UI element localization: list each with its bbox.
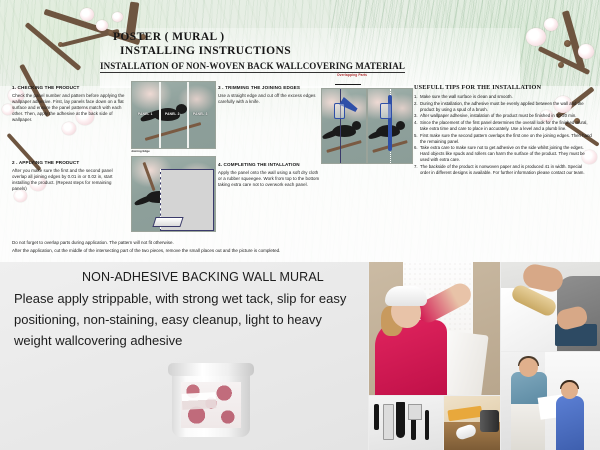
child-head	[561, 382, 578, 399]
step-1-heading: 1. CHECKING THE PRODUCT	[12, 85, 127, 91]
joining-edge-caption: Joining Edge	[131, 149, 150, 153]
tip-text: During the installation, the adhesive mu…	[420, 101, 592, 113]
child-body	[556, 396, 584, 450]
footnote-line-2: After the application, cut the middle of…	[12, 247, 280, 255]
tip-item: 5.First make sure the second pattern ove…	[414, 133, 592, 145]
footnote-line-1: Do not forget to overlap parts during ap…	[12, 239, 280, 247]
person-cap	[385, 286, 427, 306]
tip-item: 7.The backside of the product is nonwove…	[414, 164, 592, 176]
straight-edge	[334, 103, 345, 119]
tips-heading: USEFULL TIPS FOR THE INSTALLATION	[414, 84, 592, 91]
tip-item: 6.Take extra care to make sure not to ge…	[414, 145, 592, 163]
step-4-diagram	[367, 88, 413, 164]
product-listing-image: POSTER ( MURAL ) INSTALLING INSTRUCTIONS…	[0, 0, 600, 450]
tip-item: 1.Make sure the wall surface is clean an…	[414, 94, 592, 100]
paint-can	[480, 410, 499, 432]
step-1-body: Check the panel number and pattern befor…	[12, 93, 127, 123]
person-head	[519, 358, 538, 377]
putty-knife-blade-icon	[408, 404, 422, 420]
paint-tray	[447, 406, 482, 422]
step-2-heading: 2 . APPLYING THE PRODUCT	[12, 160, 127, 166]
step-3-heading: 3 . TRIMMING THE JOINING EDGES	[218, 85, 323, 91]
adhesive-bucket-photo	[168, 363, 254, 437]
branch-illustration	[142, 162, 155, 191]
panel-2-label: PANEL 2	[165, 112, 180, 116]
panel-3-label: PANEL 3	[193, 112, 208, 116]
panel-divider	[187, 82, 189, 148]
overlapping-parts-label: Overlapping Parts	[337, 73, 367, 77]
tip-item: 3.After wallpaper adhesive, instalation …	[414, 113, 592, 119]
man-and-child-photo	[501, 352, 600, 450]
tip-item: 2.During the installation, the adhesive …	[414, 101, 592, 113]
tip-text: Since the placement of the first panel d…	[420, 120, 592, 132]
tip-text: The backside of the product is nonwoven …	[420, 164, 592, 176]
tip-item: 4.Since the placement of the first panel…	[414, 120, 592, 132]
peeled-edge	[152, 217, 183, 227]
panel-1-label: PANEL 1	[138, 112, 153, 116]
sheet-footnote: Do not forget to overlap parts during ap…	[12, 239, 280, 254]
tip-text: Make sure the wall surface is clean and …	[420, 94, 592, 100]
step-2-body: After you make sure the first and the se…	[12, 168, 127, 192]
panel-divider	[159, 82, 161, 148]
sheet-title-line1: POSTER ( MURAL )	[113, 31, 225, 43]
scraper-handle-icon	[374, 404, 379, 430]
promo-title: NON-ADHESIVE BACKING WALL MURAL	[82, 270, 324, 284]
step-2-applying-the-product: 2 . APPLYING THE PRODUCT After you make …	[12, 160, 127, 192]
bird-head	[396, 121, 405, 130]
step-3-diagram	[321, 88, 367, 164]
branch-illustration	[326, 140, 361, 153]
overlap-measure-arrow	[335, 84, 361, 85]
bucket-label-text	[182, 392, 217, 410]
rollers-tray-photo	[444, 396, 500, 450]
branch-illustration	[145, 122, 202, 141]
bird-head	[352, 121, 361, 130]
smoothing-brush-icon	[383, 404, 394, 440]
instruction-sheet: POSTER ( MURAL ) INSTALLING INSTRUCTIONS…	[0, 0, 600, 262]
hands-roller-photo	[501, 262, 600, 351]
squeegee-handle	[380, 103, 392, 119]
sheet-subtitle: INSTALLATION OF NON-WOVEN BACK WALLCOVER…	[100, 61, 405, 73]
step-4-heading: 4. COMPLETING THE INTALLATION	[218, 162, 323, 168]
useful-tips-block: USEFULL TIPS FOR THE INSTALLATION 1.Make…	[414, 84, 592, 177]
tip-text: Take extra care to make sure not to get …	[420, 145, 592, 163]
woman-applying-mural-photo	[369, 262, 500, 395]
step-3-trimming-the-joining-edges: 3 . TRIMMING THE JOINING EDGES Use a str…	[218, 85, 323, 105]
step-4-body: Apply the panel onto the wall using a so…	[218, 170, 323, 188]
sheet-title-line2: INSTALLING INSTRUCTIONS	[120, 45, 291, 57]
tools-photo	[369, 396, 443, 450]
step-1-diagram: PANEL 1 PANEL 2 PANEL 3	[131, 81, 216, 149]
tip-text: After wallpaper adhesive, instalation of…	[420, 113, 592, 119]
trim-knife-icon	[425, 410, 429, 440]
step-2-diagram	[131, 156, 216, 232]
step-3-body: Use a straight edge and cut off the exce…	[218, 93, 323, 105]
cut-guide-line	[340, 89, 341, 163]
promo-body: Please apply strippable, with strong wet…	[14, 288, 362, 351]
squeegee-icon	[396, 402, 405, 438]
step-1-checking-the-product: 1. CHECKING THE PRODUCT Check the panel …	[12, 85, 127, 123]
bucket-lid	[168, 363, 254, 376]
tip-text: First make sure the second pattern overl…	[420, 133, 592, 145]
photo-collage	[369, 262, 600, 450]
step-4-completing-the-installation: 4. COMPLETING THE INTALLATION Apply the …	[218, 162, 323, 188]
